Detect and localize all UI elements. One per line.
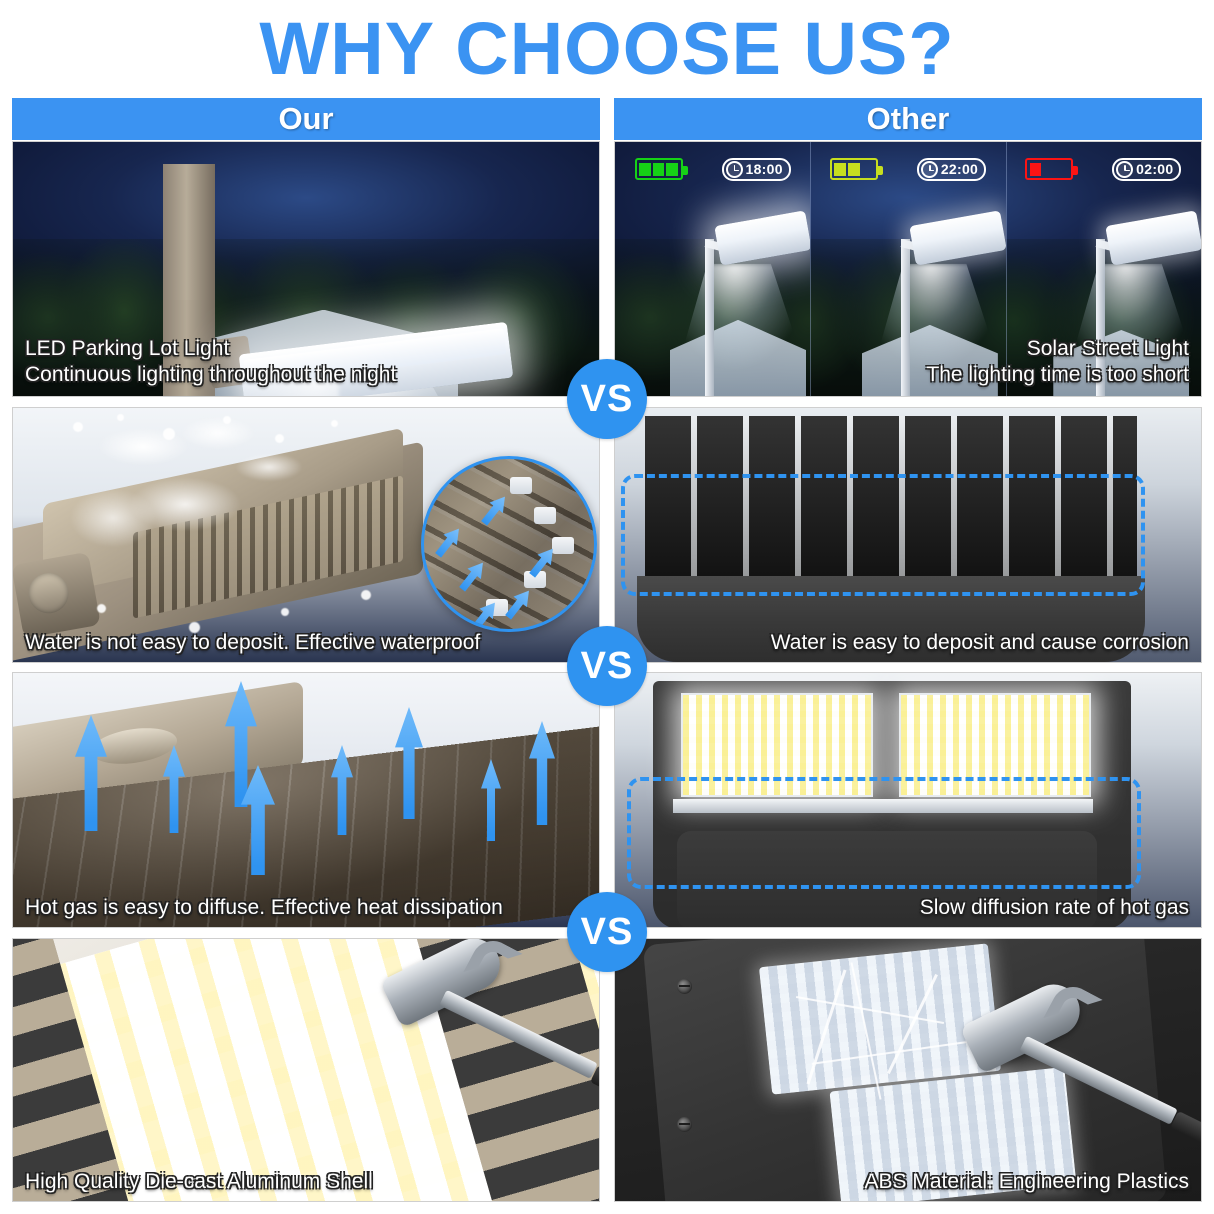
caption-other-lighting: Solar Street Light The lighting time is … [926,336,1189,388]
battery-icon-medium [830,158,878,180]
column-header-our: Our [12,98,600,140]
clock-icon [1116,161,1133,178]
panel-other-lighting-duration: 18:00 22:00 02:00 [614,141,1202,397]
drain-slot [552,537,574,554]
panel-other-material: ABS Material: Engineering Plastics [614,938,1202,1202]
battery-segment [1030,163,1042,176]
caption-line-2: Continuous lighting throughout the night [25,362,396,388]
solar-pole [705,239,714,396]
panel-our-waterproof: Water is not easy to deposit. Effective … [12,407,600,663]
solar-lamp-head [714,211,811,266]
clock-time: 22:00 [941,161,978,178]
panel-other-heat-dissipation: Slow diffusion rate of hot gas [614,672,1202,928]
battery-segment [666,163,678,176]
vs-badge-2: VS [567,626,647,706]
clock-icon [726,161,743,178]
status-indicator-1: 18:00 [615,156,810,182]
battery-segment [653,163,665,176]
column-header-other: Other [614,98,1202,140]
caption-other-material: ABS Material: Engineering Plastics [865,1169,1190,1195]
caption-our-waterproof: Water is not easy to deposit. Effective … [25,630,480,656]
caption-line-1: ABS Material: Engineering Plastics [865,1169,1190,1195]
drain-slot [534,507,556,524]
led-module [759,943,1001,1094]
battery-segment [639,163,651,176]
clock-time: 02:00 [1136,161,1173,178]
caption-other-heat: Slow diffusion rate of hot gas [920,895,1189,921]
clock-badge-3: 02:00 [1112,158,1181,181]
battery-segment-empty [862,163,874,176]
light-beam [670,264,811,396]
vs-badge-3: VS [567,892,647,972]
battery-segment [834,163,846,176]
battery-segment [848,163,860,176]
clock-badge-2: 22:00 [917,158,986,181]
lamp-post [163,164,215,304]
status-indicator-3: 02:00 [1006,156,1201,182]
page-title: WHY CHOOSE US? [0,6,1214,92]
caption-line-1: High Quality Die-cast Aluminum Shell [25,1169,373,1195]
caption-our-heat: Hot gas is easy to diffuse. Effective he… [25,895,503,921]
clock-icon [921,161,938,178]
battery-segment-empty [1057,163,1069,176]
caption-our-lighting: LED Parking Lot Light Continuous lightin… [25,336,396,388]
caption-line-2: The lighting time is too short [926,362,1189,388]
solar-lamp-head [910,211,1006,266]
battery-segment-empty [1043,163,1055,176]
solar-pole [901,239,910,396]
caption-line-1: LED Parking Lot Light [25,336,396,362]
caption-line-1: Hot gas is easy to diffuse. Effective he… [25,895,503,921]
drain-slot [510,477,532,494]
magnifier-waterflow [421,456,597,632]
highlight-dashed-box [621,474,1145,596]
battery-icon-low [1025,158,1073,180]
status-indicator-2: 22:00 [810,156,1005,182]
hammer-grip [1170,1111,1202,1156]
clock-time: 18:00 [746,161,783,178]
caption-line-1: Slow diffusion rate of hot gas [920,895,1189,921]
caption-our-material: High Quality Die-cast Aluminum Shell [25,1169,373,1195]
battery-icon-full [635,158,683,180]
solar-lamp-head [1105,211,1201,266]
screw-icon [677,979,692,994]
vs-badge-1: VS [567,359,647,439]
panel-our-material: High Quality Die-cast Aluminum Shell [12,938,600,1202]
caption-other-waterproof: Water is easy to deposit and cause corro… [771,630,1189,656]
panel-other-waterproof: Water is easy to deposit and cause corro… [614,407,1202,663]
panel-our-heat-dissipation: Hot gas is easy to diffuse. Effective he… [12,672,600,928]
screw-icon [677,1117,692,1132]
highlight-dashed-box [627,777,1141,889]
panel-our-lighting-duration: LED Parking Lot Light Continuous lightin… [12,141,600,397]
clock-badge-1: 18:00 [722,158,791,181]
caption-line-1: Solar Street Light [926,336,1189,362]
caption-line-1: Water is not easy to deposit. Effective … [25,630,480,656]
caption-line-1: Water is easy to deposit and cause corro… [771,630,1189,656]
comparison-infographic: WHY CHOOSE US? Our Other LED Parking Lot… [0,0,1214,1214]
